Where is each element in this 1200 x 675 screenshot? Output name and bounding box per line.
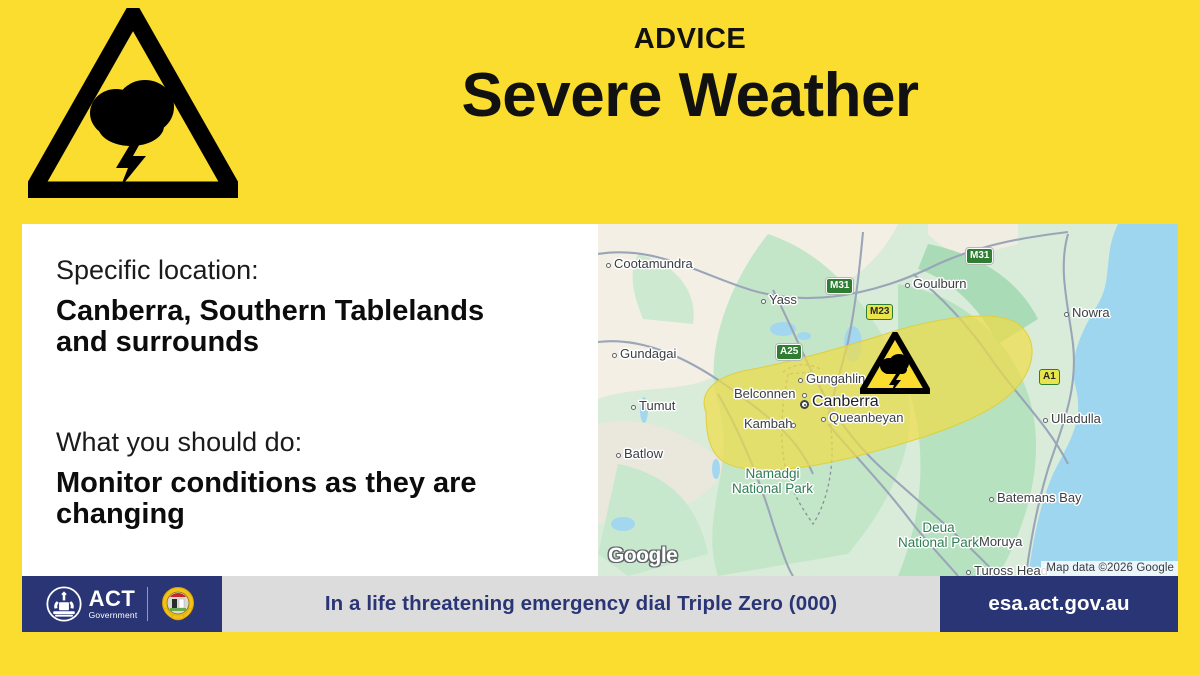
map-label-nowra: Nowra (1072, 305, 1110, 320)
place-dot (821, 417, 826, 422)
place-dot (989, 497, 994, 502)
map-label-kambah: Kambah (744, 416, 792, 431)
map-label-canberra: Canberra (812, 393, 879, 411)
severe-weather-advice-poster: ADVICE Severe Weather Specific location:… (0, 0, 1200, 675)
act-logo-name: ACT (89, 588, 136, 610)
map-attribution: Map data ©2026 Google (1041, 561, 1178, 576)
action-field: What you should do: Monitor conditions a… (56, 426, 580, 530)
place-dot (616, 453, 621, 458)
place-dot (612, 353, 617, 358)
location-field: Specific location: Canberra, Southern Ta… (56, 254, 580, 358)
place-dot (905, 283, 910, 288)
field-spacer (56, 364, 580, 426)
website-url: esa.act.gov.au (988, 592, 1129, 616)
map-label-moruya: Moruya (979, 534, 1022, 549)
map-label-ulladulla: Ulladulla (1051, 411, 1101, 426)
place-dot (1043, 418, 1048, 423)
storm-warning-triangle-icon (28, 8, 238, 198)
map-label-tuross-head: Tuross Head (974, 563, 1048, 576)
place-dot (606, 263, 611, 268)
road-shield-a25: A25 (776, 344, 802, 360)
website-bar[interactable]: esa.act.gov.au (940, 576, 1178, 632)
footer-logos: ACT Government (22, 576, 222, 632)
map-label-gundagai: Gundagai (620, 346, 676, 361)
action-value-line1: Monitor conditions as they are (56, 467, 477, 499)
emergency-message-bar: In a life threatening emergency dial Tri… (222, 576, 940, 632)
map-label-namadgi-national-park: NamadgiNational Park (732, 466, 813, 496)
content-card: Specific location: Canberra, Southern Ta… (22, 224, 1178, 576)
map-label-batlow: Batlow (624, 446, 663, 461)
act-government-logo[interactable]: ACT Government (46, 586, 138, 622)
place-dot (791, 423, 796, 428)
poster-header: ADVICE Severe Weather (0, 0, 1200, 224)
road-shield-m31: M31 (826, 278, 853, 294)
esa-emergency-services-crest-icon (158, 584, 198, 624)
location-value: Canberra, Southern Tablelands and surrou… (56, 296, 580, 358)
road-shield-m31-north: M31 (966, 248, 993, 264)
action-value: Monitor conditions as they are changing (56, 468, 580, 530)
place-dot (802, 393, 807, 398)
place-dot (761, 299, 766, 304)
act-coat-of-arms-icon (46, 586, 82, 622)
place-dot (631, 405, 636, 410)
place-dot (966, 570, 971, 575)
google-watermark: Google (608, 544, 677, 568)
action-value-line2: changing (56, 498, 185, 530)
header-text-block: ADVICE Severe Weather (240, 24, 1140, 130)
logo-divider (147, 587, 148, 621)
map-label-goulburn: Goulburn (913, 276, 966, 291)
hazard-map[interactable]: Cootamundra Yass Goulburn Nowra Gundagai… (598, 224, 1178, 576)
emergency-message: In a life threatening emergency dial Tri… (325, 592, 837, 616)
map-label-deua-national-park: DeuaNational Park (898, 520, 979, 550)
map-label-gungahlin: Gungahlin (806, 371, 865, 386)
act-wordmark: ACT Government (89, 588, 138, 620)
place-dot (798, 378, 803, 383)
map-label-queanbeyan: Queanbeyan (829, 410, 903, 425)
map-label-cootamundra: Cootamundra (614, 256, 693, 271)
place-dot (1064, 312, 1069, 317)
road-shield-m23: M23 (866, 304, 893, 320)
alert-level: ADVICE (240, 24, 1140, 56)
map-label-belconnen: Belconnen (734, 386, 795, 401)
capital-dot (800, 400, 809, 409)
location-label: Specific location: (56, 254, 580, 288)
details-panel: Specific location: Canberra, Southern Ta… (22, 224, 598, 576)
map-label-batemans-bay: Batemans Bay (997, 490, 1082, 505)
action-label: What you should do: (56, 426, 580, 460)
storm-warning-triangle-icon[interactable] (860, 332, 930, 394)
road-shield-a1: A1 (1039, 369, 1060, 385)
map-label-yass: Yass (769, 292, 797, 307)
act-logo-sub: Government (89, 611, 138, 620)
location-value-line2: and surrounds (56, 326, 259, 358)
location-value-line1: Canberra, Southern Tablelands (56, 295, 484, 327)
map-label-tumut: Tumut (639, 398, 675, 413)
footer-bar: ACT Government In a life threatening eme… (22, 576, 1178, 632)
page-title: Severe Weather (240, 62, 1140, 130)
